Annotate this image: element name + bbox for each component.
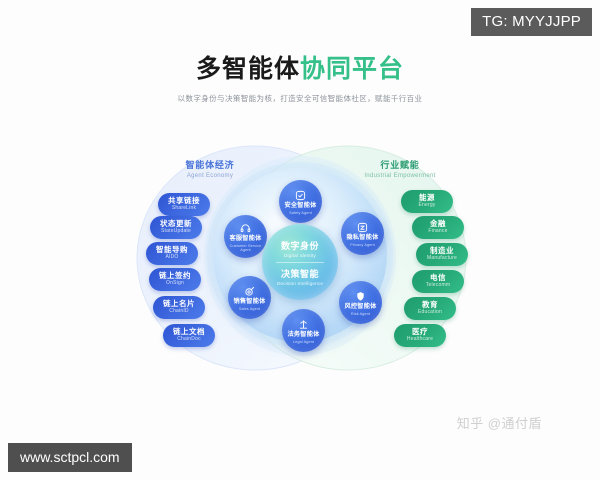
core-line1-en: Digital Identity [284,253,316,258]
satellite-0-cn: 安全智能体 [285,203,317,210]
lock-icon [357,222,368,233]
right-pill-1-en: Finance [428,229,447,235]
satellite-2-cn: 风控智能体 [345,304,377,311]
satellite-0-en: Safety Agent [289,211,312,215]
core-line2-en: Decision Intelligence [277,281,323,286]
core-divider [276,262,324,263]
right-pill-4-cn: 教育 [422,301,438,309]
left-pill-4-en: ChainID [169,309,188,315]
satellite-3-en: Legal Agent [293,340,314,344]
left-pill-4-cn: 链上名片 [163,300,195,308]
section-heading-industrial-empowerment: 行业赋能 Industrial Empowerment [345,160,455,181]
satellite-4-cn: 销售智能体 [234,299,266,306]
satellite-4-en: Sales Agent [239,307,260,311]
satellite-1-cn: 隐私智能体 [347,235,379,242]
right-pill-1-cn: 金融 [430,220,446,228]
satellite-legal-agent[interactable]: 法务智能体 Legal Agent [282,309,325,352]
balance-scale-icon [298,319,309,330]
right-pill-0-en: Energy [418,203,435,209]
right-pill-3-cn: 电信 [430,274,446,282]
satellite-1-en: Privacy Agent [350,243,375,247]
right-pill-2-en: Manufacture [427,256,457,262]
left-pill-2-cn: 智能导购 [156,246,188,254]
right-pill-3-en: Telecomm [426,283,450,289]
left-pill-onsign[interactable]: 链上签约 OnSign [149,268,201,291]
satellite-safety-agent[interactable]: 安全智能体 Safety Agent [279,180,322,223]
right-pill-0-cn: 能源 [419,194,435,202]
satellite-customer-service-agent[interactable]: 客服智能体 Customer Service Agent [224,215,267,258]
headset-icon [240,223,251,234]
left-pill-aido[interactable]: 智能导购 AIDO [146,242,198,265]
left-pill-stateupdate[interactable]: 状态更新 StateUpdate [150,216,202,239]
satellite-2-en: Risk Agent [351,312,370,316]
header: 多智能体协同平台 以数字身份与决策智能为核，打造安全可信智能体社区，赋能千行百业 [0,56,600,104]
left-pill-1-en: StateUpdate [161,229,191,235]
satellite-5-cn: 客服智能体 [230,236,262,243]
section-heading-left-cn: 智能体经济 [155,160,265,171]
right-pill-telecomm[interactable]: 电信 Telecomm [412,270,464,293]
satellite-risk-agent[interactable]: 风控智能体 Risk Agent [339,281,382,324]
right-pill-5-cn: 医疗 [412,328,428,336]
section-heading-left-en: Agent Economy [155,173,265,181]
left-pill-5-en: ChainDoc [177,337,201,343]
left-pill-sharelink[interactable]: 共享链接 ShareLink [158,193,210,216]
right-pill-4-en: Education [418,310,442,316]
title-part-dark: 多智能体 [196,55,300,83]
section-heading-right-en: Industrial Empowerment [345,173,455,181]
page-subtitle: 以数字身份与决策智能为核，打造安全可信智能体社区，赋能千行百业 [0,93,600,104]
right-pill-finance[interactable]: 金融 Finance [412,216,464,239]
left-pill-1-cn: 状态更新 [160,220,192,228]
satellite-sales-agent[interactable]: 销售智能体 Sales Agent [228,276,271,319]
right-pill-5-en: Healthcare [407,337,433,343]
satellite-3-cn: 法务智能体 [288,332,320,339]
section-heading-right-cn: 行业赋能 [345,160,455,171]
core-line1-cn: 数字身份 [281,239,319,252]
page-title: 多智能体协同平台 [0,56,600,84]
left-pill-chainid[interactable]: 链上名片 ChainID [153,296,205,319]
shield-check-icon [295,190,306,201]
tg-badge: TG: MYYJJPP [471,8,592,36]
right-pill-energy[interactable]: 能源 Energy [401,190,453,213]
left-pill-3-en: OnSign [166,281,184,287]
left-pill-0-cn: 共享链接 [168,197,200,205]
right-pill-2-cn: 制造业 [430,247,454,255]
slide-canvas: 多智能体协同平台 以数字身份与决策智能为核，打造安全可信智能体社区，赋能千行百业… [0,0,600,480]
left-pill-5-cn: 链上文档 [173,328,205,336]
zhihu-watermark: 知乎 @通付盾 [457,413,542,432]
core-line2-cn: 决策智能 [281,267,319,280]
right-pill-education[interactable]: 教育 Education [404,297,456,320]
right-pill-healthcare[interactable]: 医疗 Healthcare [394,324,446,347]
section-heading-agent-economy: 智能体经济 Agent Economy [155,160,265,181]
right-pill-manufacture[interactable]: 制造业 Manufacture [416,243,468,266]
left-pill-chaindoc[interactable]: 链上文档 ChainDoc [163,324,215,347]
title-part-green: 协同平台 [300,55,404,83]
shield-icon [355,291,366,302]
left-pill-0-en: ShareLink [172,206,196,212]
left-pill-2-en: AIDO [165,255,178,261]
satellite-privacy-agent[interactable]: 隐私智能体 Privacy Agent [341,212,384,255]
url-badge: www.sctpcl.com [8,443,132,472]
core-node-digital-identity-decision-intelligence[interactable]: 数字身份 Digital Identity 决策智能 Decision Inte… [262,224,338,300]
target-icon [244,286,255,297]
left-pill-3-cn: 链上签约 [159,272,191,280]
satellite-5-en: Customer Service Agent [224,244,267,252]
